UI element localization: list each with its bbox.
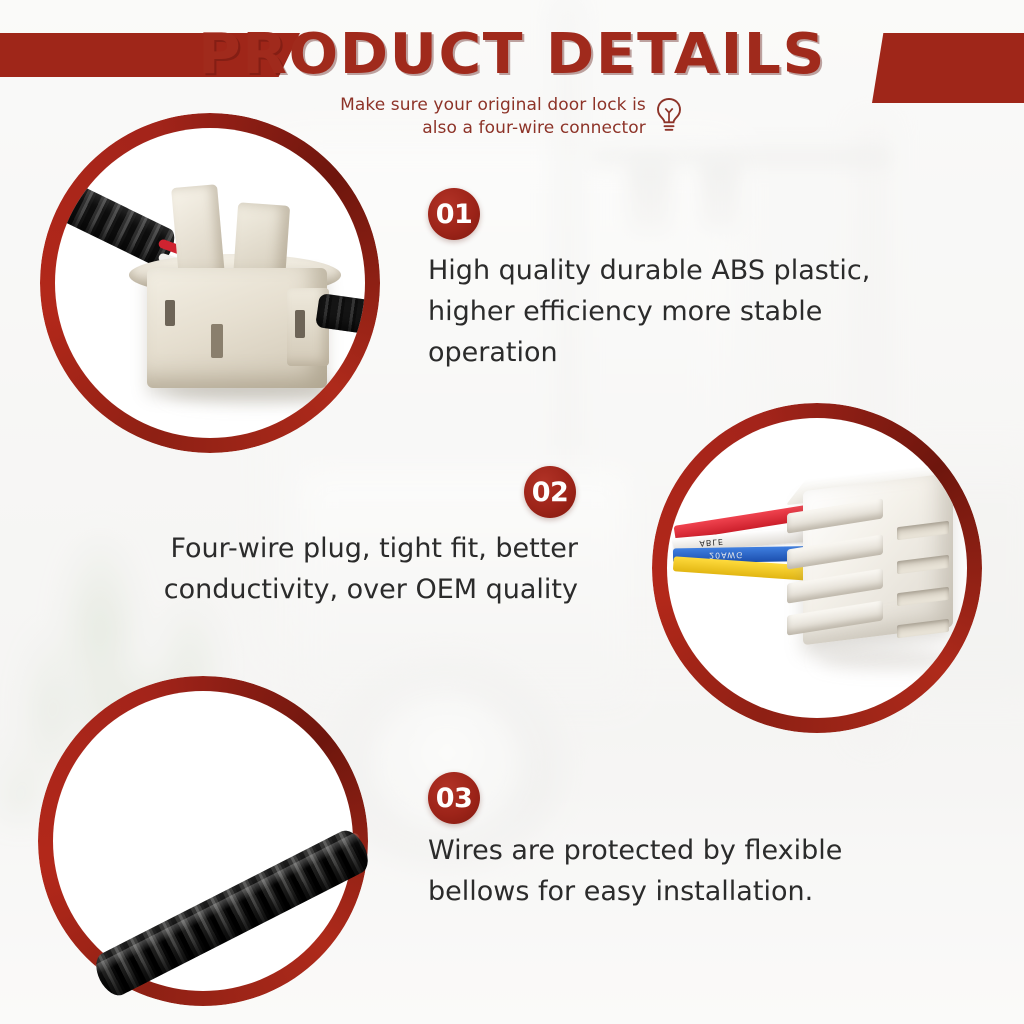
photo-inner-1 [55,128,365,438]
photo-inner-2: ABLE 20AWG [667,418,967,718]
feature-badge-03: 03 [428,772,480,824]
connector-slot-2 [211,324,223,358]
wire-marking-white: ABLE [699,537,724,548]
subtitle-line-1: Make sure your original door lock is [340,94,646,117]
product-details-infographic: PRODUCT DETAILS Make sure your original … [0,0,1024,1024]
feature-badge-01: 01 [428,188,480,240]
plug-shadow [817,650,957,670]
four-wire-plug-photo: ABLE 20AWG [652,403,982,733]
subtitle-line-2: also a four-wire connector [340,117,646,140]
feature-text-03: Wires are protected by flexible bellows … [428,830,938,912]
door-lock-connector-photo [40,113,380,453]
flexible-bellows-photo [38,676,368,1006]
lightbulb-icon [654,96,684,134]
feature-badge-02: 02 [524,466,576,518]
connector-slot-1 [165,300,175,326]
feature-text-02: Four-wire plug, tight fit, better conduc… [86,528,578,610]
page-title: PRODUCT DETAILS [0,22,1024,87]
header-subtitle: Make sure your original door lock is als… [340,94,646,140]
feature-text-01: High quality durable ABS plastic, higher… [428,250,928,373]
connector-tab-left [171,184,225,280]
connector-slot-3 [295,310,305,338]
